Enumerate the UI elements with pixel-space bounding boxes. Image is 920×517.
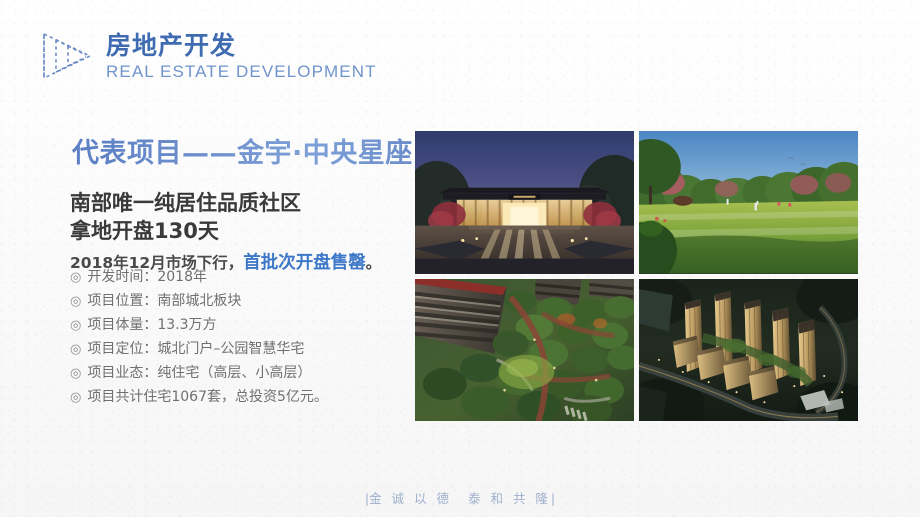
bullet-circle-icon: ◎ [70,367,81,380]
list-item-label: 项目业态：纯住宅（高层、小高层） [87,366,311,380]
bullet-circle-icon: ◎ [70,295,81,308]
list-item: ◎ 项目定位：城北门户–公园智慧华宅 [70,342,410,356]
bullet-circle-icon: ◎ [70,319,81,332]
list-item-label: 项目定位：城北门户–公园智慧华宅 [87,342,304,356]
lead-text-block: 南部唯一纯居住品质社区 拿地开盘130天 2018年12月市场下行，首批次开盘售… [70,190,405,274]
project-facts-list: ◎ 开发时间：2018年 ◎ 项目位置：南部城北板块 ◎ 项目体量：13.3万方… [70,270,410,414]
entrance-gate-dusk-photo [415,131,634,274]
list-item: ◎ 项目业态：纯住宅（高层、小高层） [70,366,410,380]
list-item: ◎ 项目位置：南部城北板块 [70,294,410,308]
list-item-label: 项目体量：13.3万方 [87,318,216,332]
slide-footer-slogan: |金 诚 以 德泰 和 共 隆| [0,488,920,507]
aerial-garden-community-photo [415,279,634,422]
list-item-label: 项目位置：南部城北板块 [87,294,241,308]
footer-bar-right: | [551,491,555,506]
footer-slogan-left: 金 诚 以 德 [369,491,452,506]
central-lawn-park-photo [639,131,858,274]
list-item: ◎ 项目共计住宅1067套，总投资5亿元。 [70,390,410,404]
list-item: ◎ 开发时间：2018年 [70,270,410,284]
list-item-label: 项目共计住宅1067套，总投资5亿元。 [87,390,328,404]
section-heading: 代表项目——金宇·中央星座 [72,131,413,170]
lead-line-1: 南部唯一纯居住品质社区 [70,190,405,218]
header-title-en: REAL ESTATE DEVELOPMENT [106,63,377,80]
bullet-circle-icon: ◎ [70,391,81,404]
night-aerial-towers-photo [639,279,858,422]
bullet-circle-icon: ◎ [70,343,81,356]
header-text-block: 房地产开发 REAL ESTATE DEVELOPMENT [106,33,377,80]
header-title-cn: 房地产开发 [106,33,377,58]
list-item-label: 开发时间：2018年 [87,270,207,284]
bullet-circle-icon: ◎ [70,271,81,284]
slide-header: 房地产开发 REAL ESTATE DEVELOPMENT [38,28,377,84]
lead-line-2: 拿地开盘130天 [70,218,405,246]
project-photo-grid [415,131,858,421]
dashed-triangle-play-logo-icon [38,28,96,84]
list-item: ◎ 项目体量：13.3万方 [70,318,410,332]
slide-root: 房地产开发 REAL ESTATE DEVELOPMENT 代表项目——金宇·中… [0,0,920,517]
footer-slogan-right: 泰 和 共 隆 [468,491,551,506]
